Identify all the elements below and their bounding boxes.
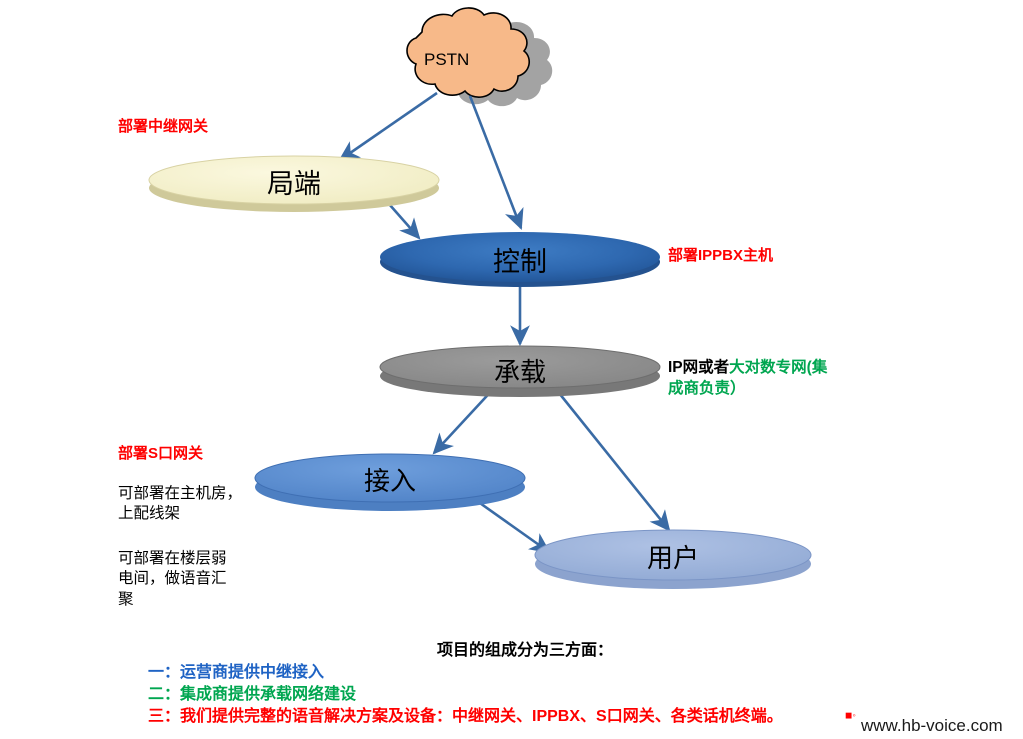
node-chengzai[interactable] xyxy=(380,346,660,397)
annotation-note-two: 可部署在楼层弱 电间，做语音汇 聚 xyxy=(118,549,227,610)
watermark-mark: ◼◦ xyxy=(845,710,856,721)
watermark-url: www.hb-voice.com xyxy=(861,716,1003,736)
legend-item-1: 一：运营商提供中继接入 xyxy=(148,658,324,682)
pstn-label: PSTN xyxy=(424,50,469,70)
node-juduan[interactable] xyxy=(149,156,439,212)
node-yonghu[interactable] xyxy=(535,530,811,589)
annotation-bearer-green-1: 大对数专网(集 xyxy=(729,359,827,376)
annotation-ippbx-host: 部署IPPBX主机 xyxy=(668,246,773,266)
annotation-bearer-black: IP网或者 xyxy=(668,359,729,376)
edge-pstn-to-juduan xyxy=(340,93,437,160)
annotation-bearer-green-2: 成商负责） xyxy=(668,380,746,397)
annotation-bearer-network: IP网或者大对数专网(集成商负责） xyxy=(668,358,878,400)
node-kongzhi[interactable] xyxy=(380,232,660,287)
edge-pstn-to-kongzhi xyxy=(470,96,521,228)
annotation-note-one: 可部署在主机房， 上配线架 xyxy=(118,484,242,525)
node-jieru[interactable] xyxy=(255,454,525,511)
annotation-s-gateway: 部署S口网关 xyxy=(118,444,203,464)
legend-item-3: 三：我们提供完整的语音解决方案及设备：中继网关、IPPBX、S口网关、各类话机终… xyxy=(148,702,783,726)
legend-item-2: 二：集成商提供承载网络建设 xyxy=(148,680,356,704)
annotation-trunk-gateway: 部署中继网关 xyxy=(118,117,208,137)
diagram-canvas: PSTN 局端 控制 承载 接入 用户 部署中继网关 部署IPPBX主机 IP网… xyxy=(0,0,1023,739)
edge-chengzai-to-yonghu xyxy=(551,383,669,530)
legend-title: 项目的组成分为三方面： xyxy=(437,636,613,660)
